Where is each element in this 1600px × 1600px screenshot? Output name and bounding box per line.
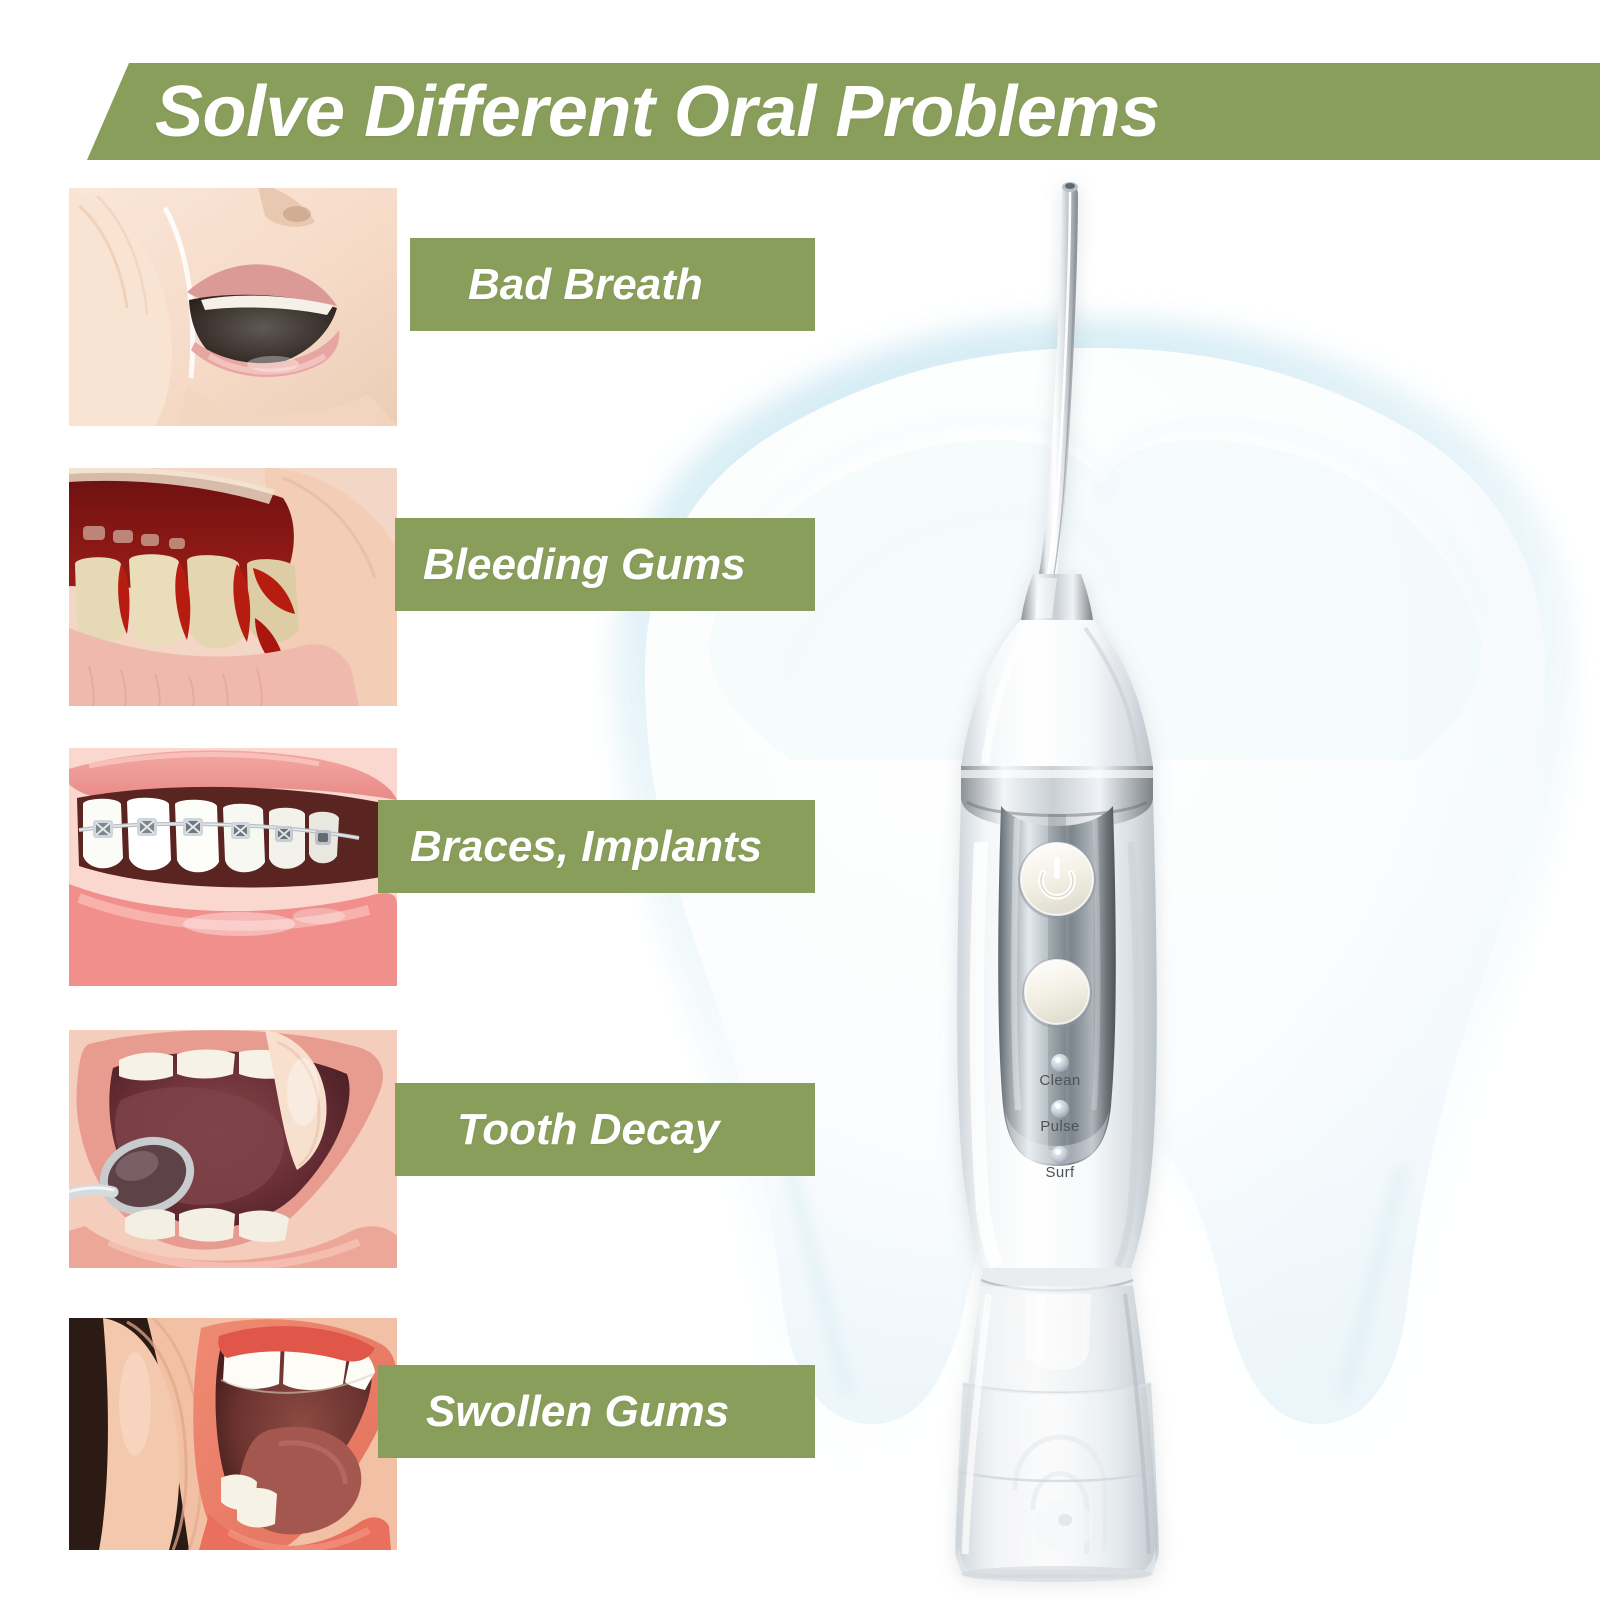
mode-button[interactable] [1025, 960, 1089, 1024]
mode-indicator-clean [1030, 1054, 1090, 1090]
product-water-flosser: Clean Pulse Surf [905, 170, 1235, 1600]
problem-label: Bleeding Gums [423, 543, 746, 587]
water-tank [955, 1280, 1165, 1580]
problem-label: Braces, Implants [410, 825, 762, 869]
problem-tag-swollen-gums[interactable]: Swollen Gums [378, 1365, 815, 1458]
problem-photo-braces [69, 748, 397, 986]
problem-photo-tooth-decay [69, 1030, 397, 1268]
nozzle-icon [1035, 180, 1085, 580]
problem-label: Tooth Decay [457, 1108, 719, 1152]
problem-tag-bleeding-gums[interactable]: Bleeding Gums [395, 518, 815, 611]
problem-label: Bad Breath [468, 263, 703, 307]
problem-tag-bad-breath[interactable]: Bad Breath [410, 238, 815, 331]
problem-label: Swollen Gums [426, 1390, 729, 1434]
problem-tag-tooth-decay[interactable]: Tooth Decay [395, 1083, 815, 1176]
mode-indicator-surf [1030, 1146, 1090, 1182]
infographic-canvas: Solve Different Oral Problems [0, 0, 1600, 1600]
problem-photo-bad-breath [69, 188, 397, 426]
page-title-banner: Solve Different Oral Problems [87, 63, 1600, 160]
problem-photo-swollen-gums [69, 1318, 397, 1550]
problem-tag-braces-implants[interactable]: Braces, Implants [378, 800, 815, 893]
mode-indicator-pulse [1030, 1100, 1090, 1136]
problem-photo-bleeding-gums [69, 468, 397, 706]
page-title: Solve Different Oral Problems [155, 76, 1160, 148]
power-button[interactable] [1021, 843, 1093, 915]
